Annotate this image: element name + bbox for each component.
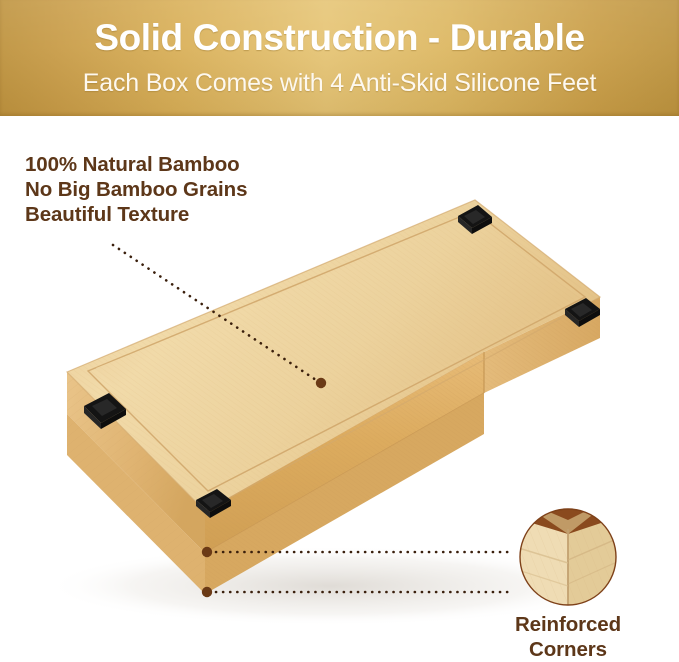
product-infographic: Solid Construction - Durable Each Box Co… xyxy=(0,0,679,662)
header-banner: Solid Construction - Durable Each Box Co… xyxy=(0,0,679,116)
product-illustration xyxy=(0,116,679,662)
bamboo-box-drawing xyxy=(0,116,679,662)
banner-title: Solid Construction - Durable xyxy=(0,17,679,59)
corner-annotation: Reinforced Corners xyxy=(497,612,639,662)
corner-annotation-line-1: Reinforced xyxy=(497,612,639,637)
banner-subtitle: Each Box Comes with 4 Anti-Skid Silicone… xyxy=(0,68,679,98)
corner-annotation-line-2: Corners xyxy=(497,637,639,662)
